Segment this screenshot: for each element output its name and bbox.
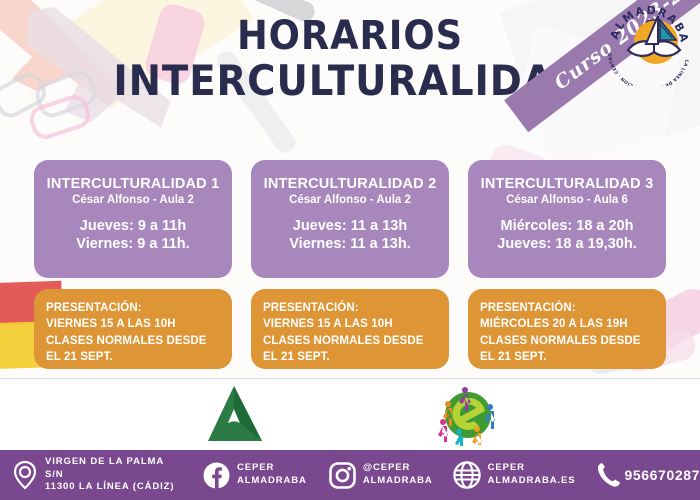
facebook-line-2: ALMADRABA — [237, 475, 307, 488]
website-line-2: ALMADRABA.ES — [488, 475, 576, 488]
presentation-line: CLASES NORMALES DESDE — [480, 333, 660, 349]
poster-canvas: HORARIOS INTERCULTURALIDAD Curso 2023-20… — [0, 0, 700, 500]
facebook-icon[interactable] — [203, 462, 230, 489]
phone-icon[interactable] — [596, 462, 621, 488]
group-schedule: Jueves: 11 a 13h Viernes: 11 a 13h. — [259, 217, 441, 253]
facebook-line-1: CEPER — [237, 462, 274, 473]
presentation-line: PRESENTACIÓN: — [263, 300, 443, 316]
group-card-1[interactable]: INTERCULTURALIDAD 1 César Alfonso - Aula… — [34, 160, 232, 278]
presentation-line: VIERNES 15 A LAS 10H — [263, 316, 443, 332]
group-column-1: INTERCULTURALIDAD 1 César Alfonso - Aula… — [34, 160, 232, 375]
location-pin-icon — [12, 460, 38, 490]
website-line-1: CEPER — [488, 462, 525, 473]
schedule-cards: INTERCULTURALIDAD 1 César Alfonso - Aula… — [0, 160, 700, 375]
junta-de-andalucia-logo — [200, 383, 270, 445]
address-line-2: 11300 LA LÍNEA (CÁDIZ) — [45, 481, 181, 494]
group-schedule: Miércoles: 18 a 20h Jueves: 18 a 19,30h. — [476, 217, 658, 253]
footer-contact-bar: VIRGEN DE LA PALMA S/N 11300 LA LÍNEA (C… — [0, 450, 700, 500]
schedule-line: Viernes: 11 a 13h. — [259, 235, 441, 253]
schedule-line: Jueves: 18 a 19,30h. — [476, 235, 658, 253]
phone-number: 956670287 — [625, 467, 700, 483]
globe-icon[interactable] — [453, 461, 481, 489]
footer-website[interactable]: CEPER ALMADRABA.ES — [453, 461, 576, 489]
group-title: INTERCULTURALIDAD 2 — [259, 176, 441, 192]
instagram-line-2: ALMADRABA — [363, 475, 433, 488]
schedule-line: Jueves: 11 a 13h — [259, 217, 441, 235]
group-card-3[interactable]: INTERCULTURALIDAD 3 César Alfonso - Aula… — [468, 160, 666, 278]
presentation-line: CLASES NORMALES DESDE — [46, 333, 226, 349]
website-text: CEPER ALMADRABA.ES — [488, 462, 576, 488]
almadraba-logo: ALMADRABA LA LINEA DE LA CONCEPCION · CE… — [606, 2, 692, 86]
partner-logo-band — [0, 378, 700, 451]
group-teacher-room: César Alfonso - Aula 2 — [42, 194, 224, 206]
footer-address: VIRGEN DE LA PALMA S/N 11300 LA LÍNEA (C… — [12, 456, 181, 494]
schedule-line: Miércoles: 18 a 20h — [476, 217, 658, 235]
footer-phone[interactable]: 956670287 — [596, 462, 700, 488]
footer-instagram[interactable]: @CEPER ALMADRABA — [329, 462, 433, 489]
address-line-1: VIRGEN DE LA PALMA S/N — [45, 456, 164, 480]
group-column-3: INTERCULTURALIDAD 3 César Alfonso - Aula… — [468, 160, 666, 375]
footer-facebook[interactable]: CEPER ALMADRABA — [203, 462, 307, 489]
presentation-line: CLASES NORMALES DESDE — [263, 333, 443, 349]
instagram-line-1: @CEPER — [363, 462, 410, 473]
group-schedule: Jueves: 9 a 11h Viernes: 9 a 11h. — [42, 217, 224, 253]
instagram-text: @CEPER ALMADRABA — [363, 462, 433, 488]
presentation-line: EL 21 SEPT. — [263, 349, 443, 365]
presentation-line: EL 21 SEPT. — [46, 349, 226, 365]
facebook-text: CEPER ALMADRABA — [237, 462, 307, 488]
presentation-card-1[interactable]: PRESENTACIÓN: VIERNES 15 A LAS 10H CLASE… — [34, 289, 232, 369]
presentation-card-2[interactable]: PRESENTACIÓN: VIERNES 15 A LAS 10H CLASE… — [251, 289, 449, 369]
group-title: INTERCULTURALIDAD 3 — [476, 176, 658, 192]
presentation-line: PRESENTACIÓN: — [480, 300, 660, 316]
schedule-line: Viernes: 9 a 11h. — [42, 235, 224, 253]
group-column-2: INTERCULTURALIDAD 2 César Alfonso - Aula… — [251, 160, 449, 375]
presentation-line: EL 21 SEPT. — [480, 349, 660, 365]
group-title: INTERCULTURALIDAD 1 — [42, 176, 224, 192]
presentation-card-3[interactable]: PRESENTACIÓN: MIÉRCOLES 20 A LAS 19H CLA… — [468, 289, 666, 369]
address-text: VIRGEN DE LA PALMA S/N 11300 LA LÍNEA (C… — [45, 456, 181, 494]
presentation-line: VIERNES 15 A LAS 10H — [46, 316, 226, 332]
instagram-icon[interactable] — [329, 462, 356, 489]
group-teacher-room: César Alfonso - Aula 6 — [476, 194, 658, 206]
educacion-permanente-logo — [435, 382, 501, 446]
group-teacher-room: César Alfonso - Aula 2 — [259, 194, 441, 206]
presentation-line: PRESENTACIÓN: — [46, 300, 226, 316]
group-card-2[interactable]: INTERCULTURALIDAD 2 César Alfonso - Aula… — [251, 160, 449, 278]
schedule-line: Jueves: 9 a 11h — [42, 217, 224, 235]
presentation-line: MIÉRCOLES 20 A LAS 19H — [480, 316, 660, 332]
